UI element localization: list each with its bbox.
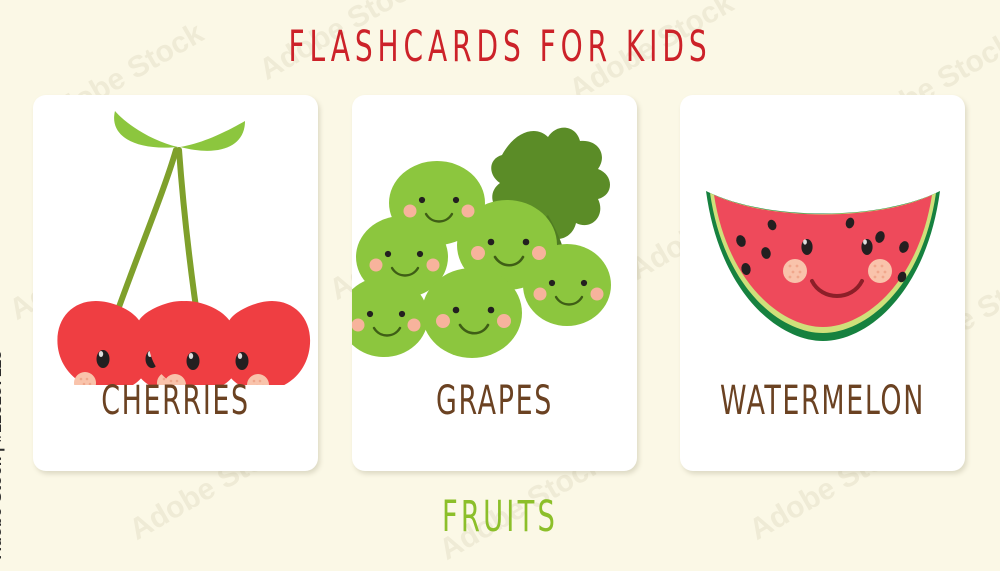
flashcard-cherries[interactable]: CHERRIES bbox=[33, 95, 318, 471]
grapes-illustration bbox=[352, 95, 637, 385]
flashcard-watermelon[interactable]: WATERMELON bbox=[680, 95, 965, 471]
watermelon-illustration bbox=[680, 95, 965, 385]
flashcard-grapes[interactable]: GRAPES bbox=[352, 95, 637, 471]
card-label-grapes: GRAPES bbox=[376, 378, 613, 424]
flashcard-poster: Adobe Stock Adobe Stock Adobe Stock Adob… bbox=[0, 0, 1000, 571]
stock-watermark-id: Adobe Stock | #123237113 bbox=[0, 350, 6, 559]
footer-category: FRUITS bbox=[100, 492, 900, 541]
card-label-watermelon: WATERMELON bbox=[704, 378, 941, 424]
card-label-cherries: CHERRIES bbox=[57, 378, 294, 424]
cherries-illustration bbox=[33, 95, 318, 385]
page-title: FLASHCARDS FOR KIDS bbox=[90, 22, 910, 71]
